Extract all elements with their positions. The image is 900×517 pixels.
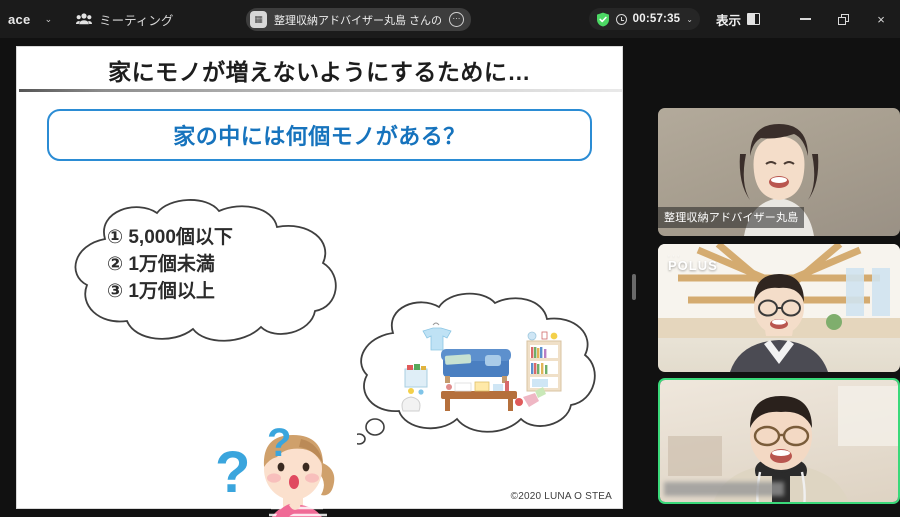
question-mark-large: ? [215, 439, 250, 506]
bookshelf-illustration [527, 332, 561, 391]
room-thought-bubble [357, 287, 607, 447]
minimize-button[interactable] [786, 0, 824, 38]
shared-content-title: 整理収納アドバイザー丸島 さんの [274, 12, 442, 28]
meeting-stage: 家にモノが増えないようにするために… 家の中には何個モノがある？ ① 5,000… [0, 38, 900, 517]
title-bar-right: 00:57:35 ⌄ 表示 × [589, 0, 900, 38]
splitter-grip-icon[interactable] [632, 274, 636, 300]
participant-name-label-1: 整理収納アドバイザー丸島 [658, 207, 804, 228]
minimize-icon [800, 18, 811, 20]
participant-name-label-3 [664, 482, 784, 496]
question-mark-small: ? [267, 421, 291, 466]
people-icon [76, 12, 92, 26]
sofa-illustration [441, 349, 511, 383]
shared-app-icon: ▦ [250, 11, 267, 28]
meeting-timer: 00:57:35 [633, 13, 681, 25]
video-tile-3-active-speaker[interactable] [658, 378, 900, 504]
layout-icon [747, 13, 760, 25]
options-list: ① 5,000個以下 ② 1万個未満 ③ 1万個以上 [107, 225, 233, 306]
laundry-illustration [402, 397, 420, 411]
title-bar-center: ▦ 整理収納アドバイザー丸島 さんの ⋯ [246, 8, 471, 31]
close-icon: × [877, 12, 885, 27]
room-illustration [397, 319, 577, 417]
slide-title: 家にモノが増えないようにするために… [17, 53, 622, 87]
meeting-tab[interactable]: ミーティング [76, 10, 173, 29]
polus-logo: 。。。POLUS [668, 252, 718, 273]
panel-splitter[interactable] [630, 46, 638, 509]
title-divider [19, 89, 622, 92]
video-tile-2[interactable]: 。。。POLUS [658, 244, 900, 372]
view-button[interactable]: 表示 [716, 10, 760, 29]
question-box-text: 家の中には何個モノがある？ [173, 119, 466, 151]
options-thought-bubble: ① 5,000個以下 ② 1万個未満 ③ 1万個以上 [65, 199, 365, 347]
shared-app-glyph: ▦ [254, 14, 263, 25]
shared-content-pill[interactable]: ▦ 整理収納アドバイザー丸島 さんの ⋯ [246, 8, 471, 31]
thinking-girl-illustration: ? ? [205, 415, 360, 517]
title-bar: ace ⌄ ミーティング ▦ [0, 0, 900, 38]
question-box: 家の中には何個モノがある？ [47, 109, 592, 161]
shirt-illustration [423, 323, 451, 350]
meeting-window: ace ⌄ ミーティング ▦ [0, 0, 900, 517]
restore-icon [838, 14, 849, 25]
meeting-timer-group[interactable]: 00:57:35 ⌄ [589, 8, 700, 30]
timer-chevron-down-icon[interactable]: ⌄ [686, 15, 693, 24]
shield-check-icon [596, 12, 610, 27]
polus-logo-sub: 。。。 [668, 252, 718, 258]
meeting-tab-label: ミーティング [99, 10, 173, 29]
video-rail: 整理収納アドバイザー丸島 [650, 38, 900, 517]
toybox-illustration [405, 364, 427, 395]
app-name-label: ace [8, 12, 31, 27]
chevron-down-icon[interactable]: ⌄ [45, 14, 53, 25]
close-button[interactable]: × [862, 0, 900, 38]
restore-button[interactable] [824, 0, 862, 38]
slide-copyright: ©2020 LUNA O STEA [511, 491, 612, 502]
shared-slide[interactable]: 家にモノが増えないようにするために… 家の中には何個モノがある？ ① 5,000… [16, 46, 623, 509]
more-options-icon[interactable]: ⋯ [449, 12, 464, 27]
clock-icon [616, 14, 627, 25]
view-button-label: 表示 [716, 10, 741, 29]
title-bar-left: ace ⌄ ミーティング [0, 10, 173, 29]
video-tile-1[interactable]: 整理収納アドバイザー丸島 [658, 108, 900, 236]
